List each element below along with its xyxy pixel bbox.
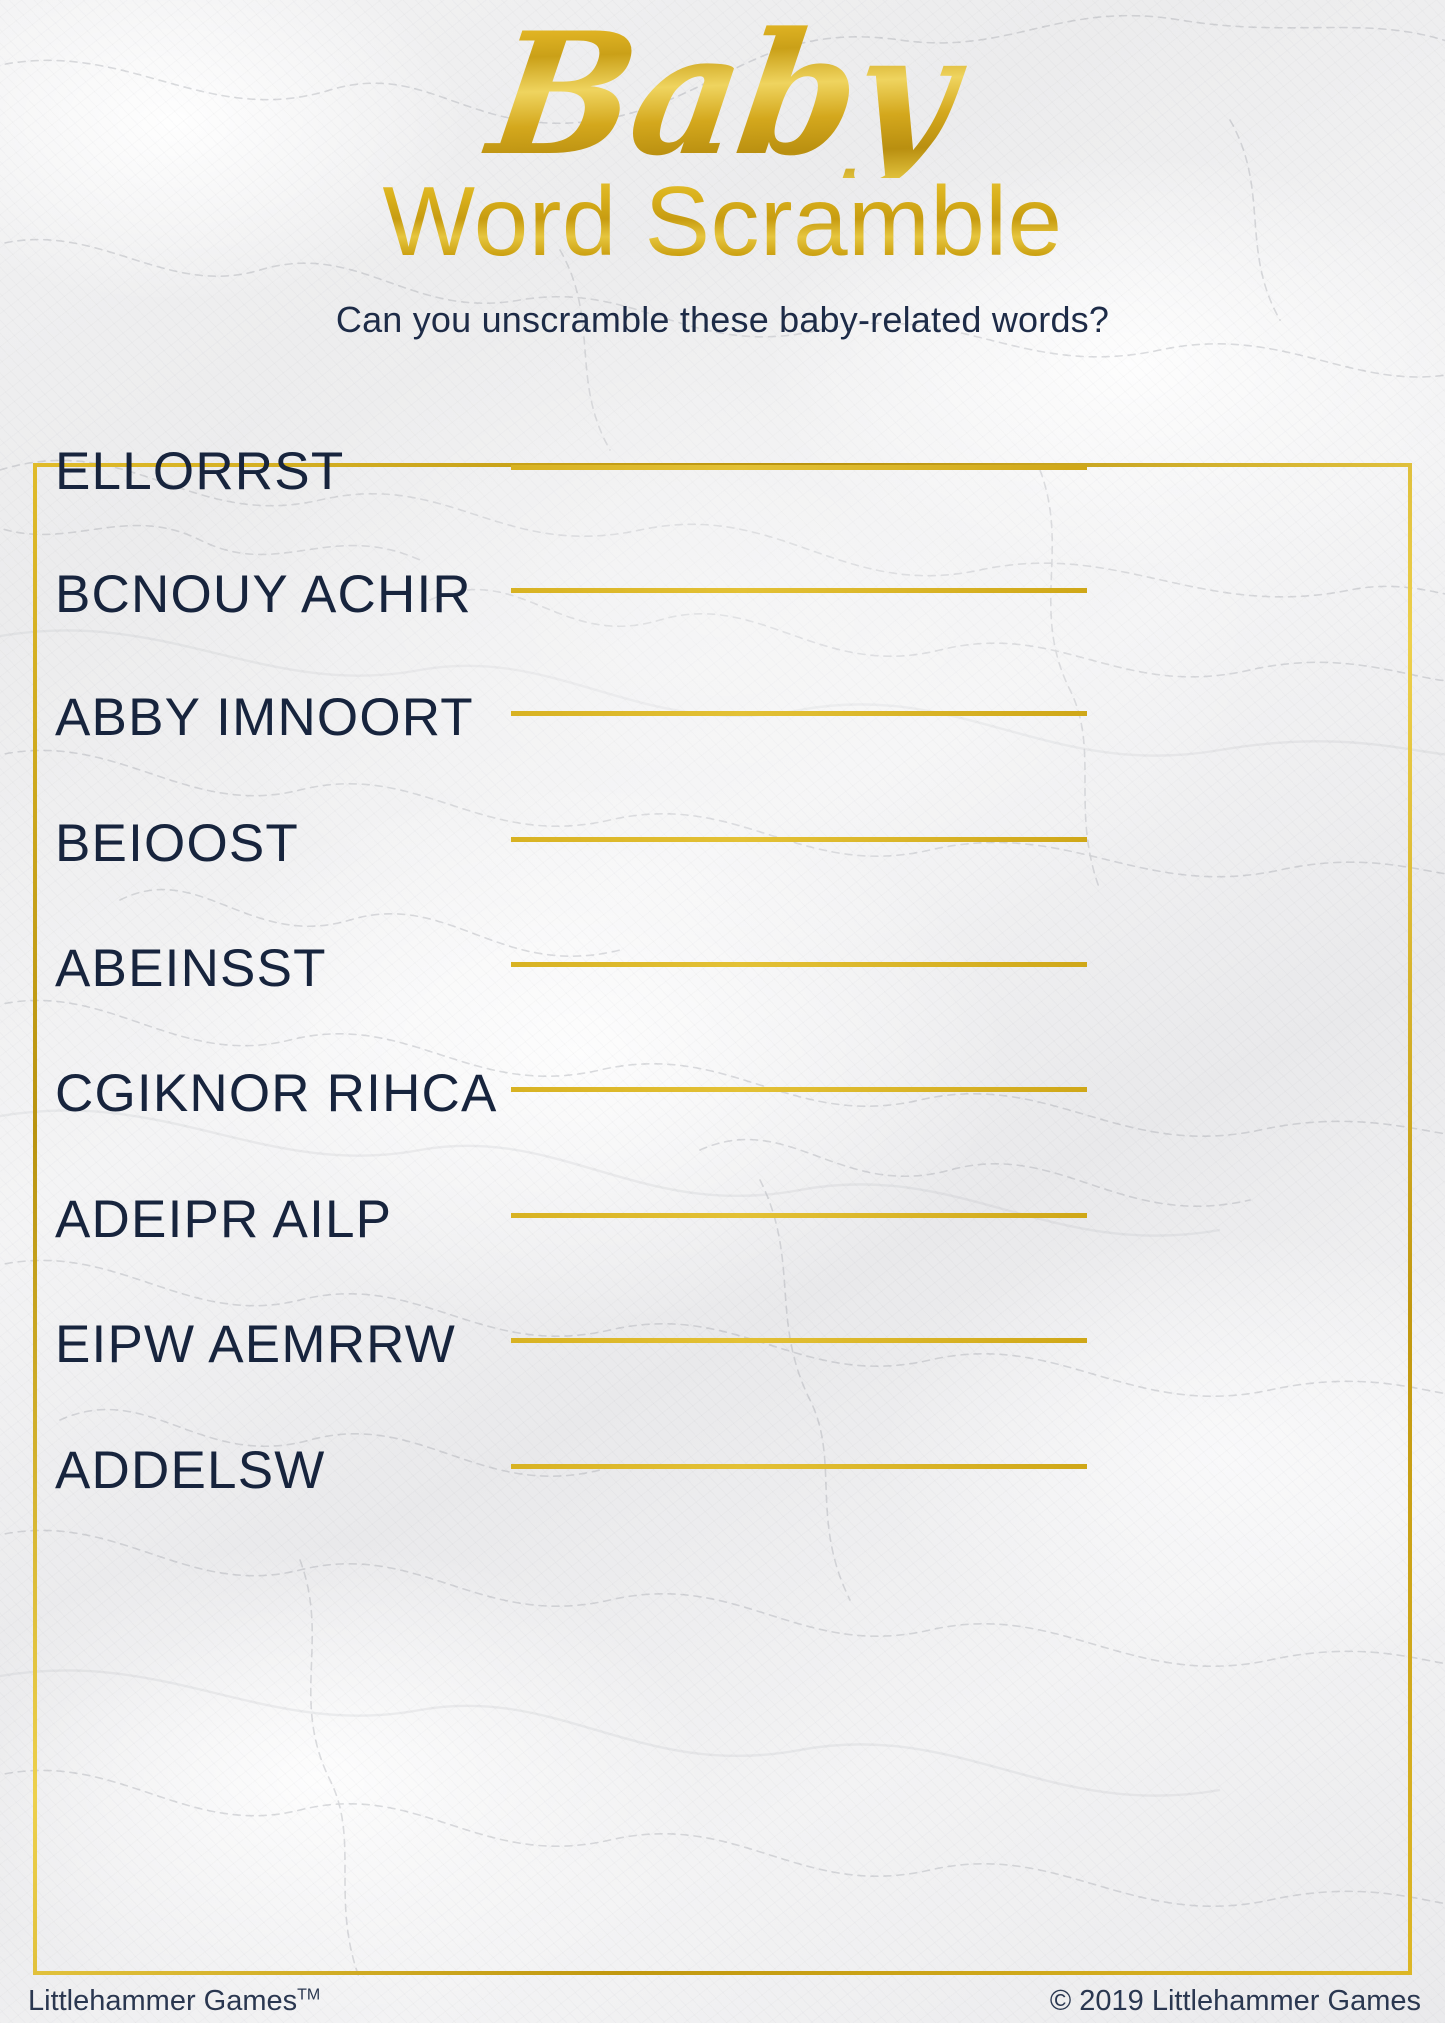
footer-brand-name: Littlehammer Games — [28, 1985, 297, 2017]
trademark-symbol: TM — [297, 1986, 320, 2003]
footer-brand: Littlehammer GamesTM — [28, 1985, 320, 2018]
scramble-list: ELLORRST BCNOUY ACHIR ABBY IMNOORT BEIOO… — [33, 463, 1412, 1975]
scramble-word: ABEINSST — [55, 938, 327, 999]
answer-line[interactable] — [511, 837, 1087, 842]
scramble-word: ADDELSW — [55, 1440, 326, 1501]
scramble-word: EIPW AEMRRW — [55, 1314, 456, 1375]
answer-line[interactable] — [511, 1087, 1087, 1092]
scramble-word: CGIKNOR RIHCA — [55, 1063, 498, 1124]
answer-line[interactable] — [511, 1338, 1087, 1343]
scramble-word: ABBY IMNOORT — [55, 687, 474, 748]
answer-line[interactable] — [511, 962, 1087, 967]
scramble-word: ADEIPR AILP — [55, 1189, 392, 1250]
answer-line[interactable] — [511, 1213, 1087, 1218]
page-subtitle: Can you unscramble these baby-related wo… — [0, 299, 1445, 341]
word-scramble-card: Baby Word Scramble Can you unscramble th… — [0, 0, 1445, 2023]
footer-copyright: © 2019 Littlehammer Games — [1050, 1985, 1421, 2018]
scramble-word: BCNOUY ACHIR — [55, 564, 472, 625]
list-item: ADDELSW — [33, 1462, 1412, 1622]
answer-line[interactable] — [511, 588, 1087, 593]
answer-line[interactable] — [511, 1464, 1087, 1469]
answer-line[interactable] — [511, 711, 1087, 716]
answer-line[interactable] — [511, 465, 1087, 470]
scramble-word: BEIOOST — [55, 813, 299, 874]
scramble-word: ELLORRST — [55, 441, 344, 502]
page-title-script: Baby — [0, 10, 1445, 178]
